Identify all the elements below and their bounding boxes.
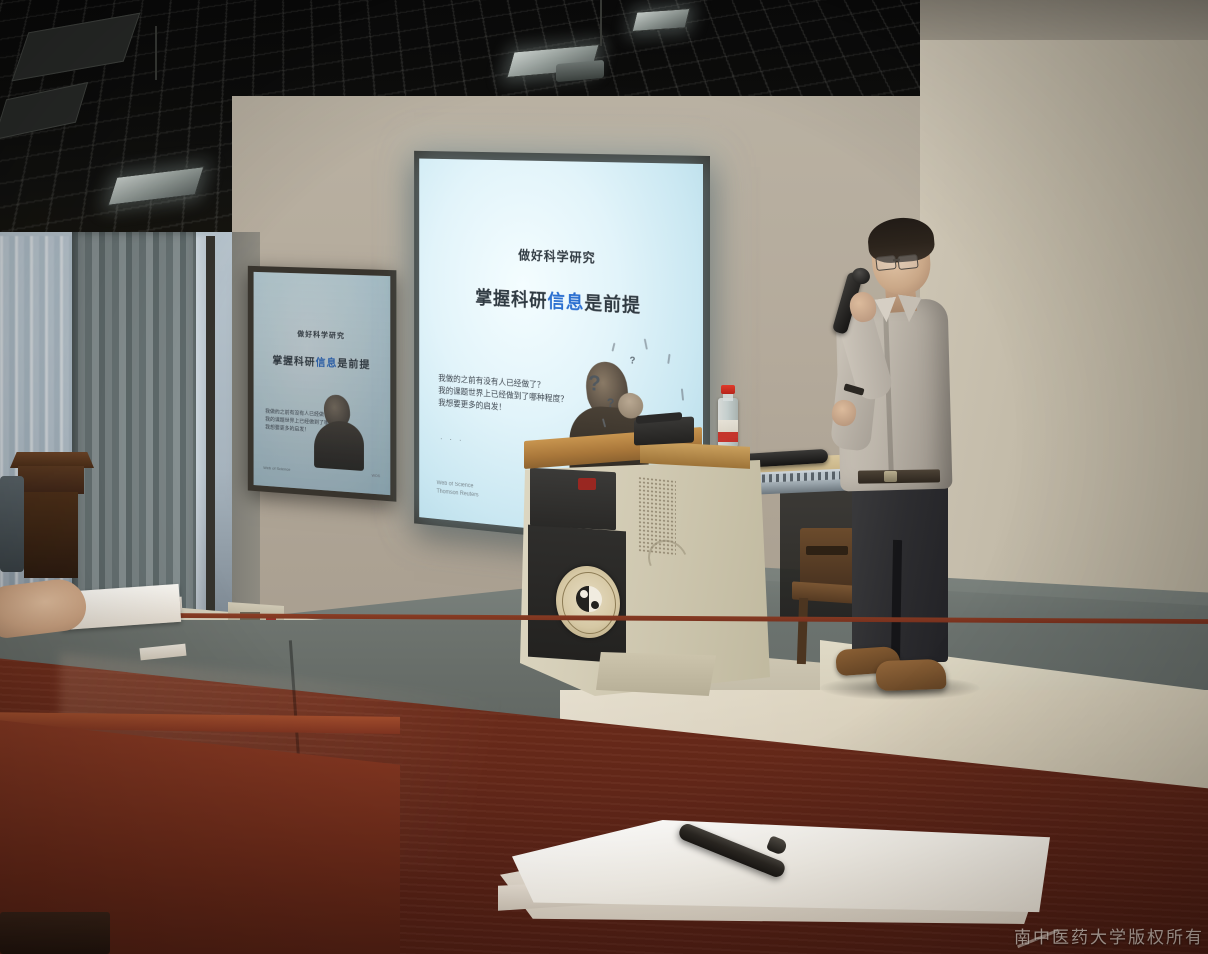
- slide-title-prefix: 掌握科研: [475, 288, 547, 312]
- ceiling-hanger-rod-1: [155, 26, 157, 80]
- slide-title-suffix: 是前提: [584, 293, 641, 316]
- speaker-shoe-right: [875, 659, 946, 691]
- secondary-projection-screen: 做好科学研究 掌握科研信息是前提 我做的之前有没有人已经做了？ 我的课题世界上已…: [254, 272, 391, 495]
- slide-footer: Web of Science Thomson Reuters: [437, 479, 479, 500]
- speaker-belt: [858, 469, 940, 483]
- slide-title-line2: 掌握科研信息是前提: [419, 281, 703, 321]
- copyright-watermark: 南中医药大学版权所有: [1014, 923, 1204, 948]
- wooden-chair-back[interactable]: [800, 528, 854, 586]
- ceiling-hanger-rod-2: [600, 0, 602, 46]
- slide-question-mark-1: ?: [588, 370, 601, 396]
- secondary-title-prefix: 掌握科研: [272, 356, 315, 369]
- slide-question-mark-2: ?: [607, 395, 614, 410]
- slide-title-highlight: 信息: [547, 291, 584, 313]
- slide-body: 我做的之前有没有人已经做了？ 我的课题世界上已经做到了哪种程度？ 我想要更多的启…: [438, 372, 568, 419]
- taiji-dot-dark-icon: [591, 601, 599, 609]
- wooden-chair-back-slat: [806, 546, 848, 555]
- photograph-canvas: 做好科学研究 掌握科研信息是前提 我做的之前有没有人已经做了？ 我的课题世界上已…: [0, 0, 1208, 954]
- taiji-icon: [576, 585, 602, 612]
- slide-tick-4: [681, 389, 684, 401]
- podium-control-panel[interactable]: [530, 468, 616, 531]
- side-chair: [0, 476, 24, 572]
- window-curtain: [72, 232, 196, 632]
- slide-title-line1: 做好科学研究: [419, 241, 703, 271]
- secondary-slide-corner-mark: WOS: [372, 474, 380, 479]
- window-frame: [206, 236, 215, 630]
- secondary-title-highlight: 信息: [316, 358, 338, 370]
- secondary-slide-title-line1: 做好科学研究: [254, 327, 391, 343]
- secondary-slide-content: 做好科学研究 掌握科研信息是前提 我做的之前有没有人已经做了？ 我的课题世界上已…: [254, 272, 391, 495]
- podium-base: [596, 652, 716, 696]
- secondary-slide-photo: ? ?: [310, 385, 368, 471]
- secondary-title-suffix: 是前提: [337, 359, 370, 372]
- secondary-slide-footer: Web of Science: [263, 465, 290, 472]
- slide-question-mark-3: ?: [630, 355, 636, 366]
- under-table-box: [0, 912, 110, 954]
- secondary-slide-title-line2: 掌握科研信息是前提: [254, 351, 391, 373]
- side-lectern-base: [24, 492, 78, 578]
- water-bottle-cap[interactable]: [721, 385, 735, 394]
- ceiling-light-fixture-3: [632, 8, 691, 32]
- speaker-belt-buckle: [884, 471, 897, 482]
- slide-tick-3: [667, 354, 670, 364]
- eyeglasses-lens-left-icon: [875, 255, 896, 271]
- water-bottle-label-band: [718, 432, 738, 442]
- side-lectern-body: [18, 466, 84, 494]
- secondary-photo-body: [314, 420, 364, 471]
- taiji-dot-light-icon: [580, 590, 588, 598]
- eyeglasses-lens-right-icon: [897, 254, 918, 270]
- slide-bullet-dots: · · ·: [440, 434, 464, 445]
- podium-brand-logo: [578, 478, 596, 490]
